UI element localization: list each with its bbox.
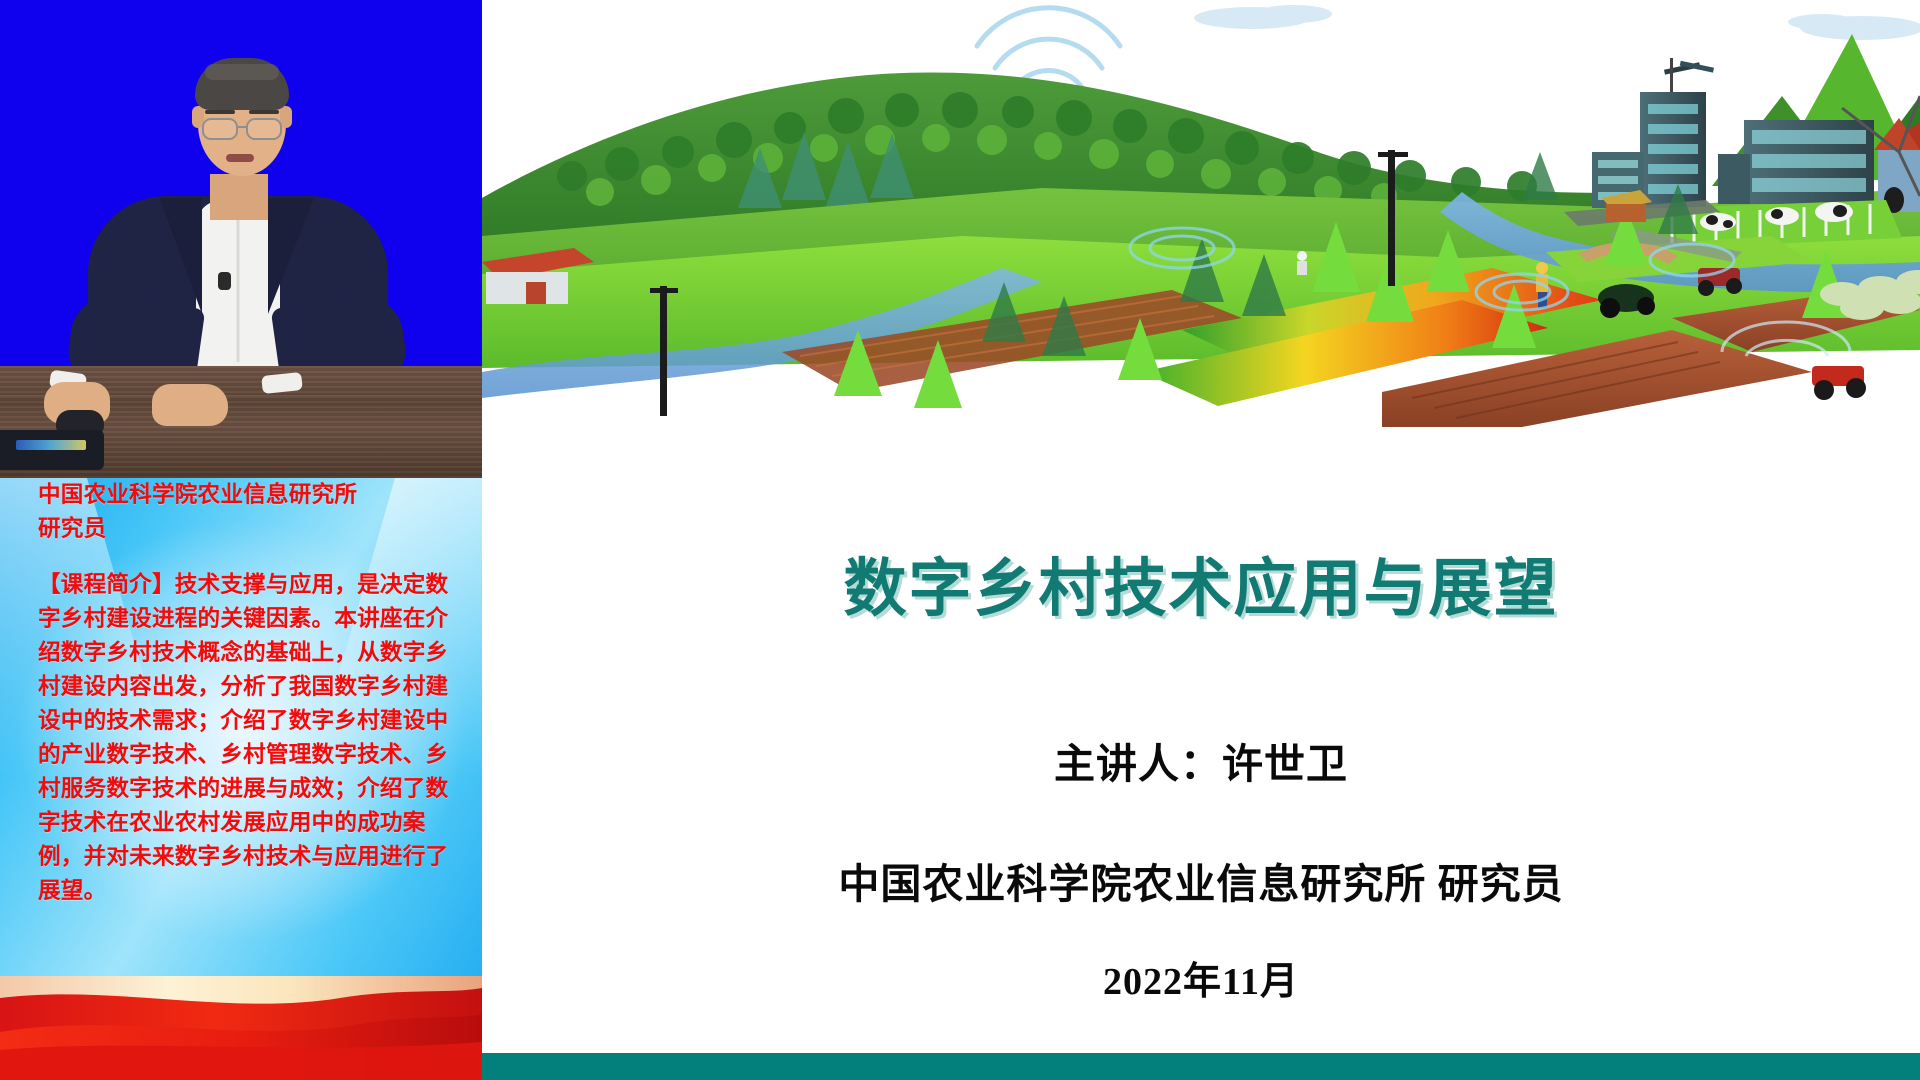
smart-village-illustration — [482, 0, 1920, 427]
presentation-screen: 【主讲人简介】许世卫 中国农业科学院农业信息研究所 研究员 【课程简介】技术支撑… — [0, 0, 1920, 1080]
speaker-mouth — [226, 154, 254, 162]
left-column: 【主讲人简介】许世卫 中国农业科学院农业信息研究所 研究员 【课程简介】技术支撑… — [0, 0, 482, 1080]
red-ribbon-decoration — [0, 976, 482, 1080]
slide-title: 数字乡村技术应用与展望 — [482, 538, 1920, 629]
eyebrow-right — [249, 110, 279, 114]
slide-byline: 主讲人：许世卫 中国农业科学院农业信息研究所 研究员 2022年11月 — [482, 730, 1920, 1005]
course-info-text: 【主讲人简介】许世卫 中国农业科学院农业信息研究所 研究员 【课程简介】技术支撑… — [38, 478, 458, 908]
date-line: 2022年11月 — [482, 950, 1920, 1005]
eyeglass-bridge — [238, 126, 246, 128]
eyeglass-lens-left — [202, 118, 238, 140]
affiliation-line: 中国农业科学院农业信息研究所 研究员 — [482, 850, 1920, 910]
speaker-bio-text: 【主讲人简介】许世卫 中国农业科学院农业信息研究所 研究员 — [38, 478, 458, 546]
suit-lapel-left — [160, 198, 202, 314]
slide-bottom-bar — [482, 1053, 1920, 1080]
speaker-hair — [195, 58, 289, 110]
course-info-panel: 【主讲人简介】许世卫 中国农业科学院农业信息研究所 研究员 【课程简介】技术支撑… — [0, 478, 482, 1080]
presenter-line: 主讲人：许世卫 — [482, 730, 1920, 790]
eyebrow-left — [205, 110, 235, 114]
slide-content: 数字乡村技术应用与展望 主讲人：许世卫 中国农业科学院农业信息研究所 研究员 2… — [482, 0, 1920, 1080]
speaker-neck — [210, 174, 268, 220]
hand-right — [152, 384, 228, 426]
lapel-microphone-icon — [218, 272, 231, 290]
speaker-video-feed[interactable] — [0, 0, 482, 478]
course-intro-text: 【课程简介】技术支撑与应用，是决定数字乡村建设进程的关键因素。本讲座在介绍数字乡… — [38, 568, 458, 908]
laptop-icon — [0, 430, 104, 470]
suit-lapel-right — [268, 198, 314, 314]
eyeglass-lens-right — [246, 118, 282, 140]
